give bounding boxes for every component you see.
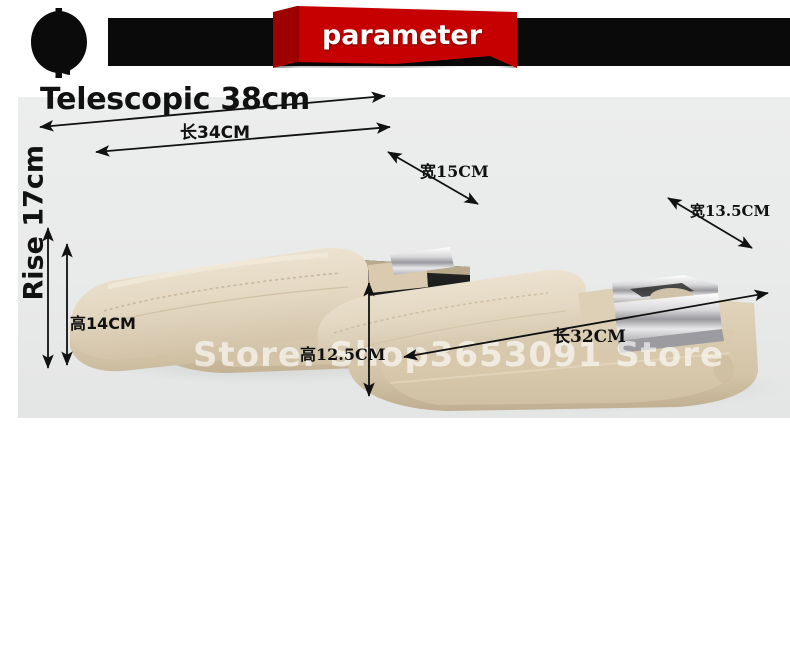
header: parameter bbox=[0, 0, 790, 85]
label-telescopic-38cm: Telescopic 38cm bbox=[40, 82, 310, 117]
product-photo: Store: Shop3653091 Store bbox=[18, 97, 790, 418]
label-height-14cm: 高14CM bbox=[70, 310, 136, 334]
product-illustration bbox=[18, 97, 790, 418]
label-width-15cm: 宽15CM bbox=[420, 158, 489, 182]
label-height-12-5cm: 高12.5CM bbox=[300, 341, 385, 365]
product-parameter-page: parameter bbox=[0, 0, 790, 667]
label-width-13-5cm: 宽13.5CM bbox=[690, 200, 770, 221]
label-length-32cm: 长32CM bbox=[553, 322, 626, 347]
parameter-ribbon: parameter bbox=[273, 6, 517, 68]
label-rise-17cm: Rise 17cm bbox=[19, 181, 50, 301]
phi-monogram-logo-icon bbox=[18, 8, 100, 78]
parameter-ribbon-label: parameter bbox=[273, 6, 517, 68]
style-description-list: A style: single layer, no USB+ light, ro… bbox=[0, 430, 790, 667]
label-length-34cm: 长34CM bbox=[180, 118, 250, 143]
